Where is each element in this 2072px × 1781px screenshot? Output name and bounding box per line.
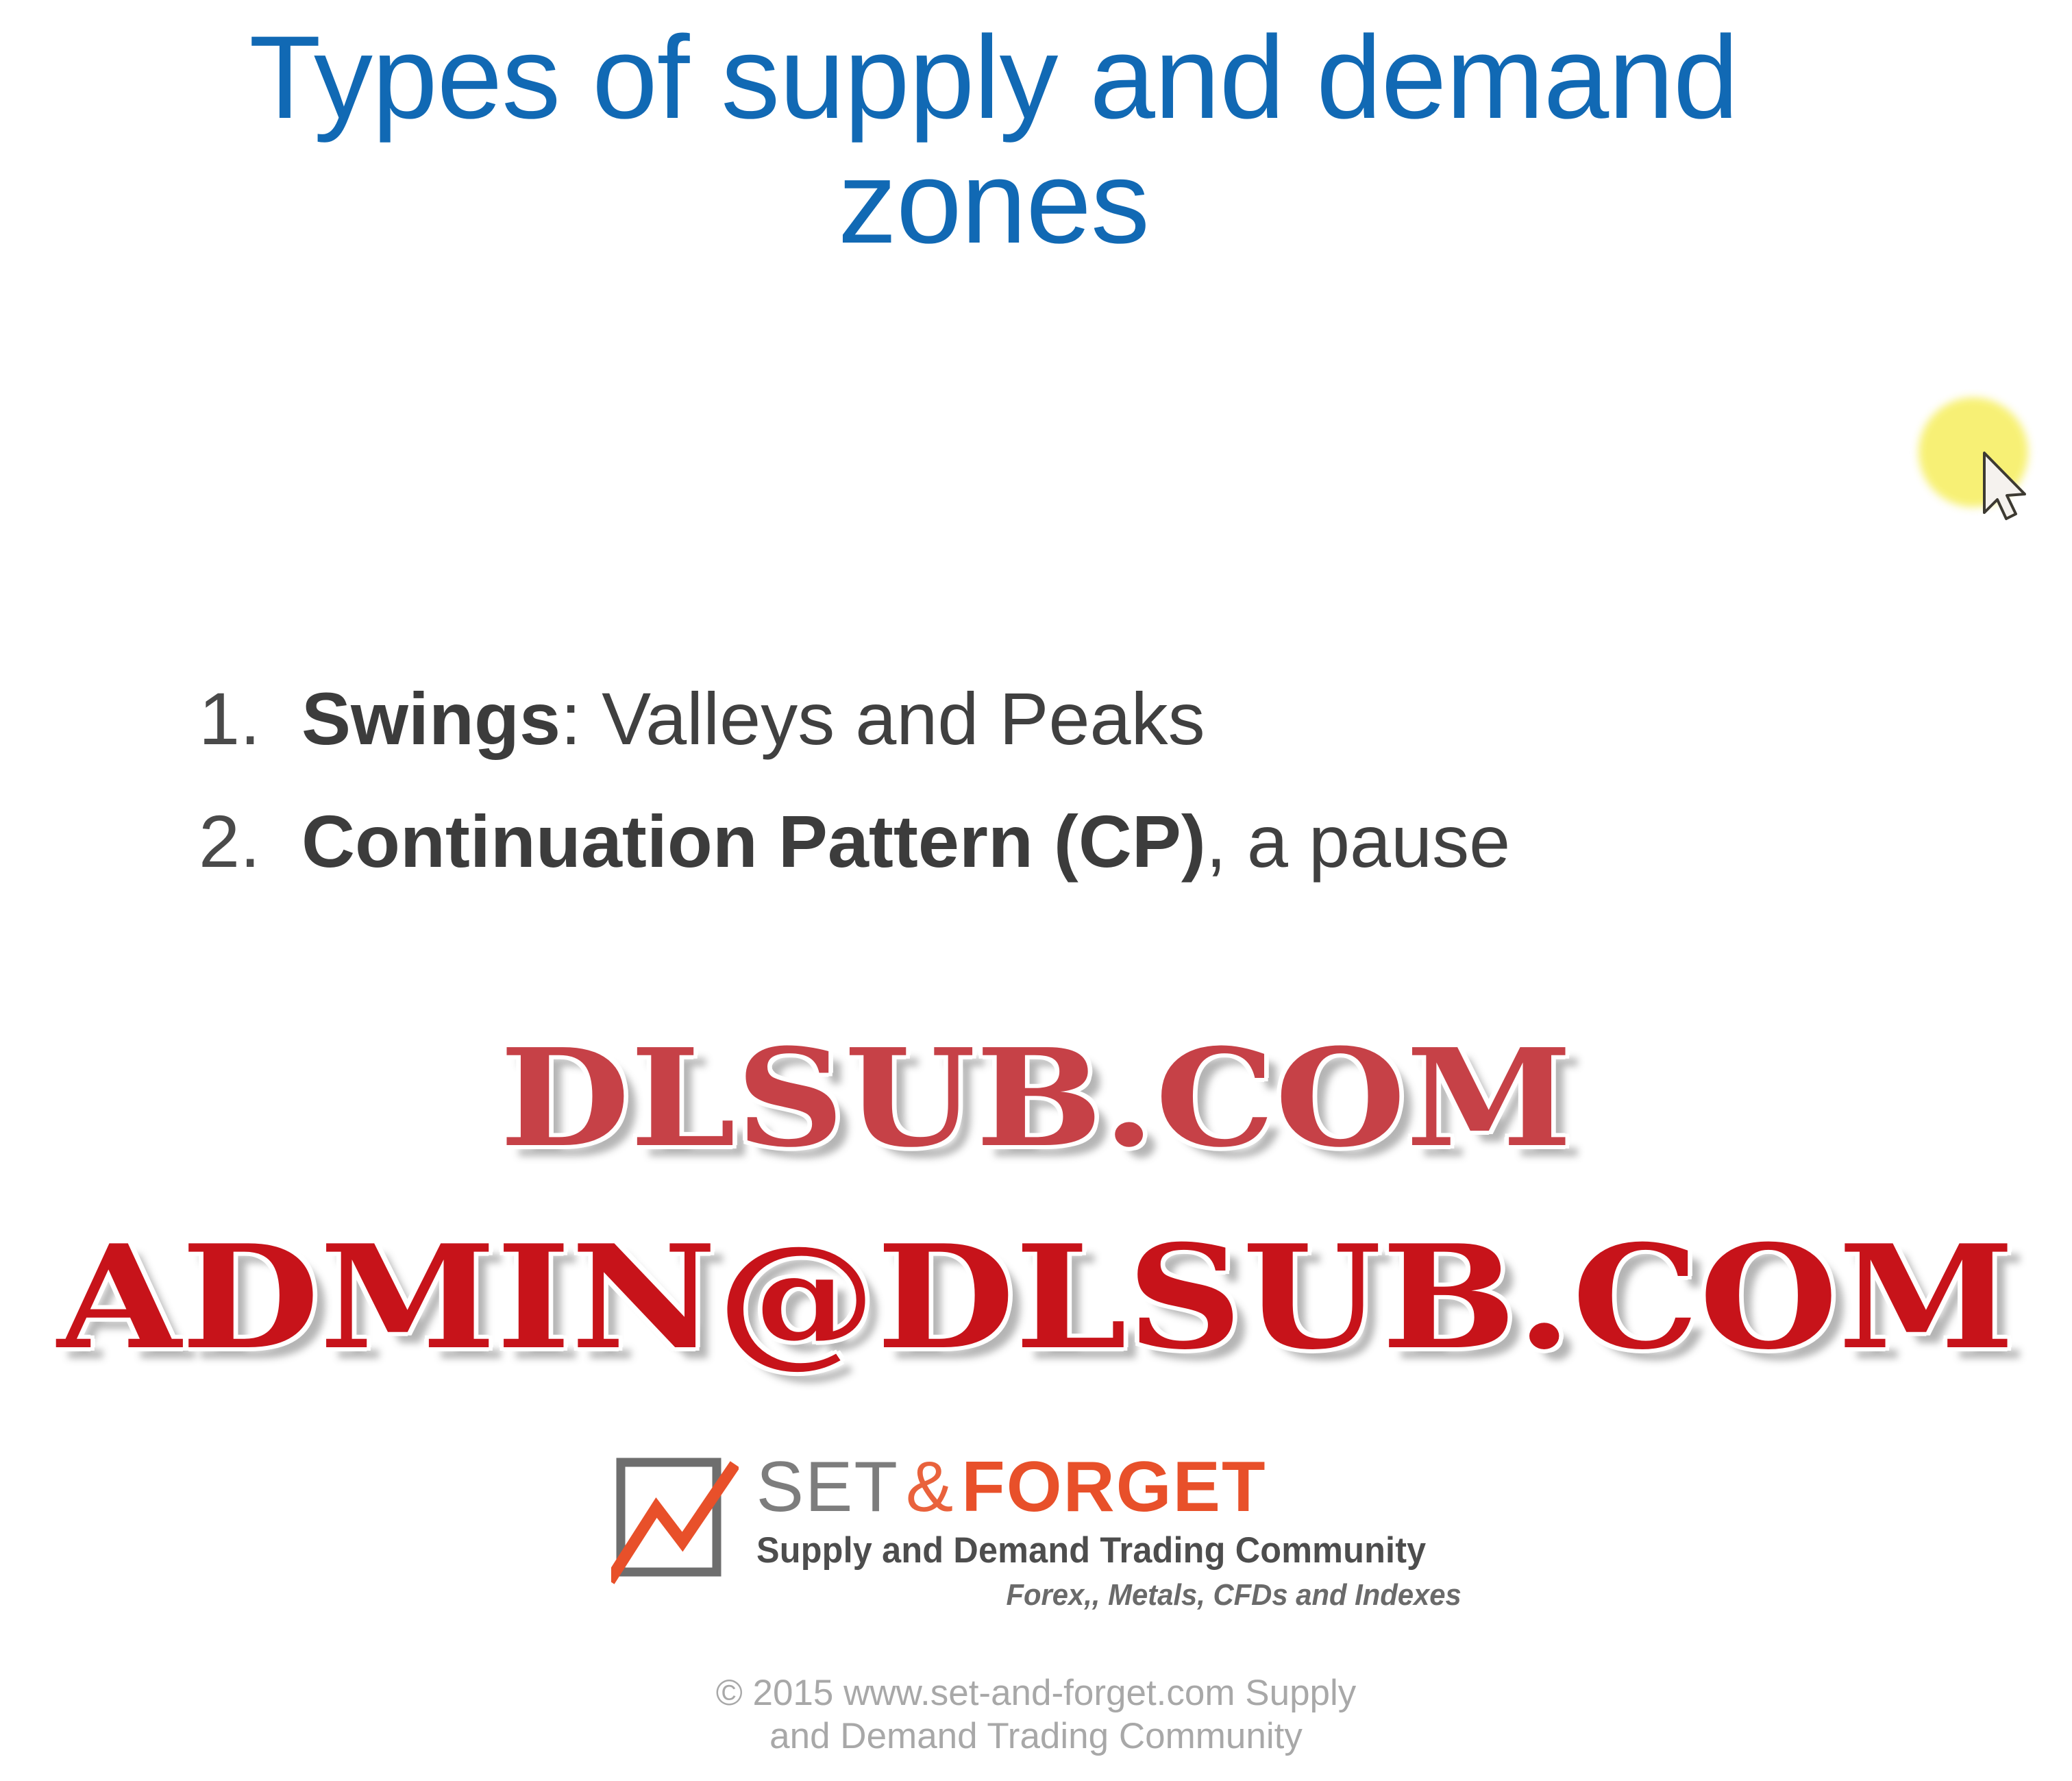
watermark-domain: DLSUB.COM [0, 1031, 2072, 1166]
chart-square-icon [611, 1454, 739, 1586]
list-item-bold: Continuation Pattern (CP) [301, 800, 1206, 883]
logo-word-ampersand: & [899, 1447, 961, 1527]
logo-word-set: SET [756, 1447, 899, 1527]
list-item-bold: Swings [301, 677, 560, 760]
list-item-rest: : Valleys and Peaks [560, 677, 1205, 760]
copyright-notice: © 2015 www.set-and-forget.com Supply and… [0, 1672, 2072, 1758]
watermark-email: ADMIN@DLSUB.COM [0, 1227, 2072, 1369]
logo-word-forget: FORGET [961, 1447, 1266, 1527]
slide-canvas: Types of supply and demand zones 1. Swin… [0, 0, 2072, 1781]
mouse-pointer-icon [1982, 451, 2032, 521]
list-item: 1. Swings: Valleys and Peaks [199, 675, 2035, 762]
logo-subtagline: Forex,, Metals, CFDs and Indexes [791, 1578, 1461, 1612]
cursor-highlight [1919, 397, 2056, 535]
list-item-text: Continuation Pattern (CP), a pause [301, 798, 1510, 885]
page-title: Types of supply and demand zones [82, 15, 1905, 265]
logo-tagline: Supply and Demand Trading Community [756, 1530, 1426, 1571]
numbered-list: 1. Swings: Valleys and Peaks 2. Continua… [199, 675, 2035, 921]
logo-wordmark: SET&FORGET [756, 1451, 1461, 1523]
list-item-number: 1. [199, 675, 301, 762]
list-item-rest: , a pause [1206, 800, 1510, 883]
list-item-text: Swings: Valleys and Peaks [301, 675, 1205, 762]
brand-logo: SET&FORGET Supply and Demand Trading Com… [0, 1451, 2072, 1612]
list-item: 2. Continuation Pattern (CP), a pause [199, 798, 2035, 885]
list-item-number: 2. [199, 798, 301, 885]
